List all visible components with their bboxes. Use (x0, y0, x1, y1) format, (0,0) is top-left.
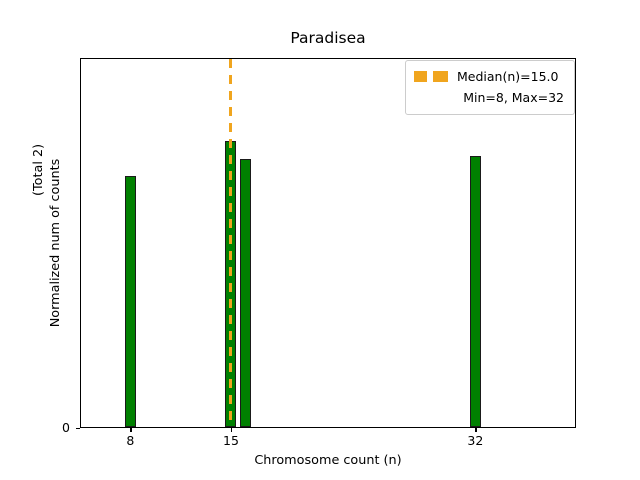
legend: Median(n)=15.0 Min=8, Max=32 (405, 60, 575, 115)
x-tick-label: 32 (445, 433, 505, 449)
legend-item-median: Median(n)=15.0 (414, 66, 566, 87)
x-tick-mark (231, 428, 232, 432)
y-axis-total-label: (Total 2) (31, 144, 46, 196)
x-tick-mark (475, 428, 476, 432)
x-tick-label: 8 (100, 433, 160, 449)
dashed-line-icon (414, 71, 448, 82)
y-axis-label: Normalized num of counts (48, 58, 63, 428)
y-axis-label-group: Normalized num of counts (Total 2) (0, 58, 34, 428)
median-line (229, 59, 232, 427)
legend-label-median: Median(n)=15.0 (457, 69, 566, 84)
legend-item-range: Min=8, Max=32 (414, 87, 566, 108)
legend-label-range: Min=8, Max=32 (457, 90, 566, 105)
chart-figure: Paradisea 815320 Chromosome count (n) No… (0, 0, 640, 480)
x-axis-label: Chromosome count (n) (80, 452, 576, 469)
x-tick-label: 15 (201, 433, 261, 449)
x-tick-mark (130, 428, 131, 432)
bar (470, 156, 481, 427)
bar (240, 159, 251, 427)
y-tick-mark (76, 428, 80, 429)
chart-title: Paradisea (80, 28, 576, 48)
legend-spacer (414, 92, 448, 103)
bar (125, 176, 136, 427)
